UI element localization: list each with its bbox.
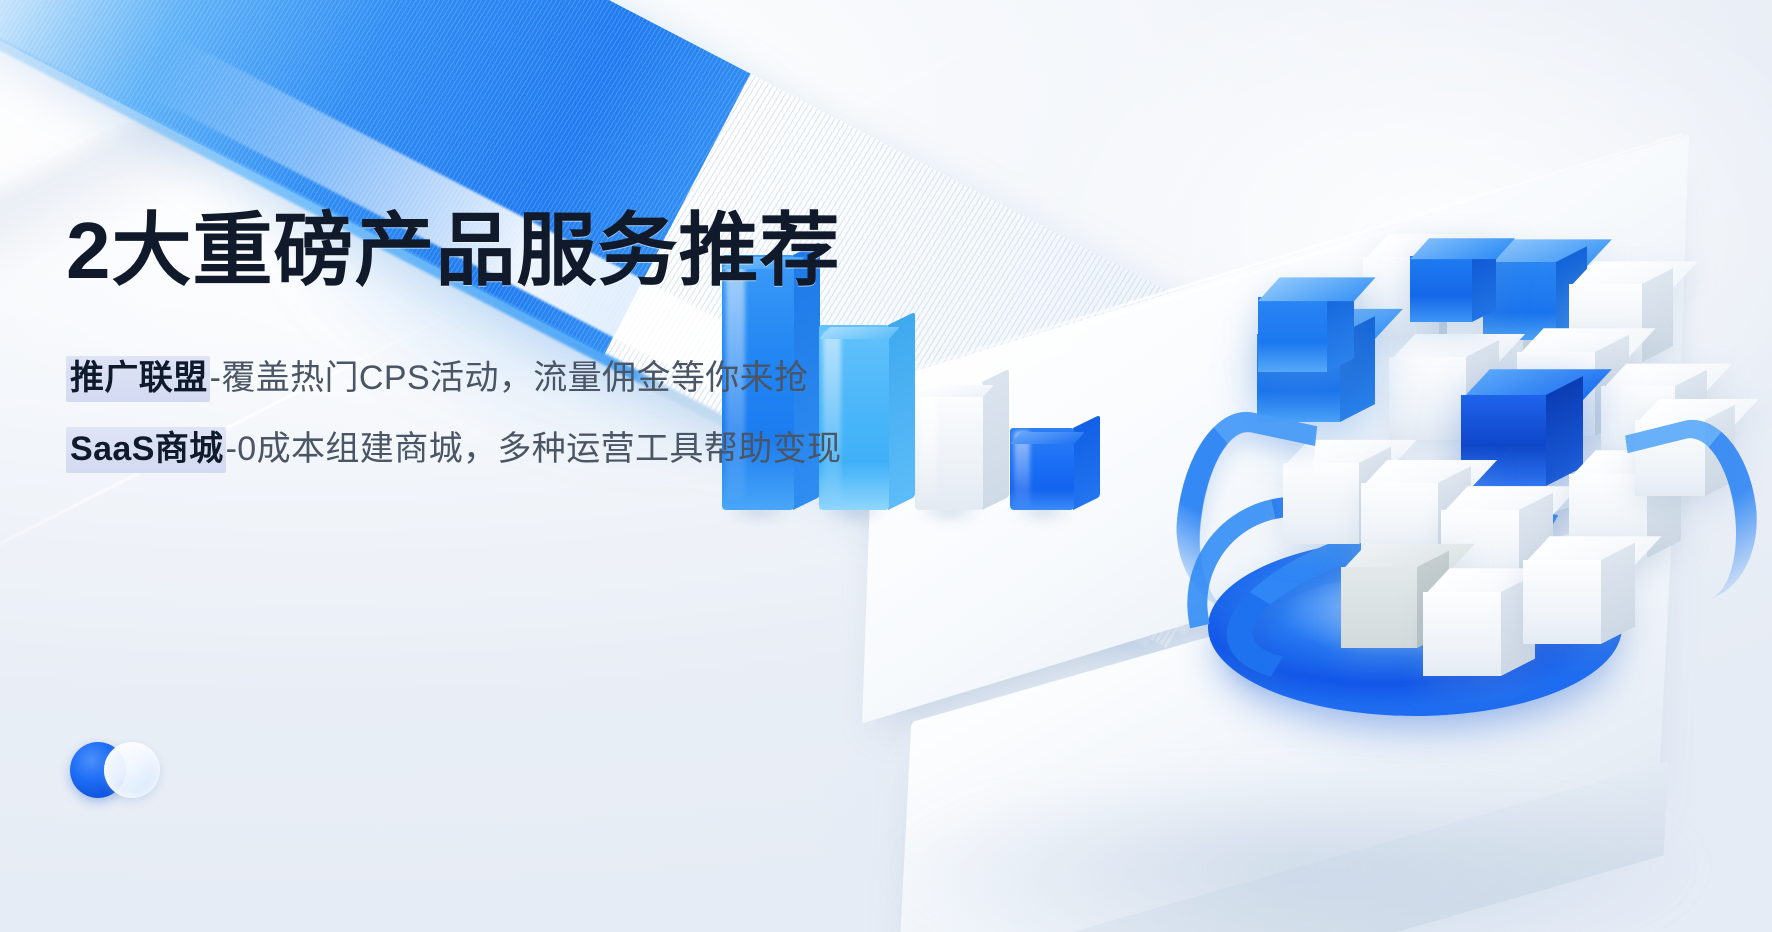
feature-desc-1: -覆盖热门CPS活动，流量佣金等你来抢 — [210, 359, 809, 397]
floating-blue-cube-b — [1410, 230, 1496, 322]
floor-shadow — [780, 746, 1772, 932]
promo-banner: 2大重磅产品服务推荐 推广联盟-覆盖热门CPS活动，流量佣金等你来抢 SaaS商… — [0, 0, 1772, 932]
feature-name-2: SaaS商城 — [66, 427, 226, 473]
feature-list: 推广联盟-覆盖热门CPS活动，流量佣金等你来抢 SaaS商城-0成本组建商城，多… — [66, 356, 1026, 473]
cluster-cube-white — [1423, 556, 1535, 676]
cube-front-face — [1410, 256, 1472, 322]
feature-desc-2: -0成本组建商城，多种运营工具帮助变现 — [226, 430, 842, 468]
logo-mark — [70, 742, 180, 806]
banner-text-block: 2大重磅产品服务推荐 推广联盟-覆盖热门CPS活动，流量佣金等你来抢 SaaS商… — [66, 206, 1026, 499]
cube-front-face — [1258, 297, 1327, 372]
bar-side-face — [1073, 415, 1100, 510]
cluster-cube-white — [1523, 524, 1635, 644]
feature-item-1: 推广联盟-覆盖热门CPS活动，流量佣金等你来抢 — [66, 356, 1026, 402]
logo-circle-glass-icon — [104, 742, 160, 798]
feature-name-1: 推广联盟 — [66, 356, 210, 402]
blue-swoosh-right — [1625, 406, 1767, 613]
page-title: 2大重磅产品服务推荐 — [66, 206, 1026, 296]
floating-blue-cube-a — [1258, 268, 1354, 372]
feature-item-2: SaaS商城-0成本组建商城，多种运营工具帮助变现 — [66, 427, 1026, 473]
